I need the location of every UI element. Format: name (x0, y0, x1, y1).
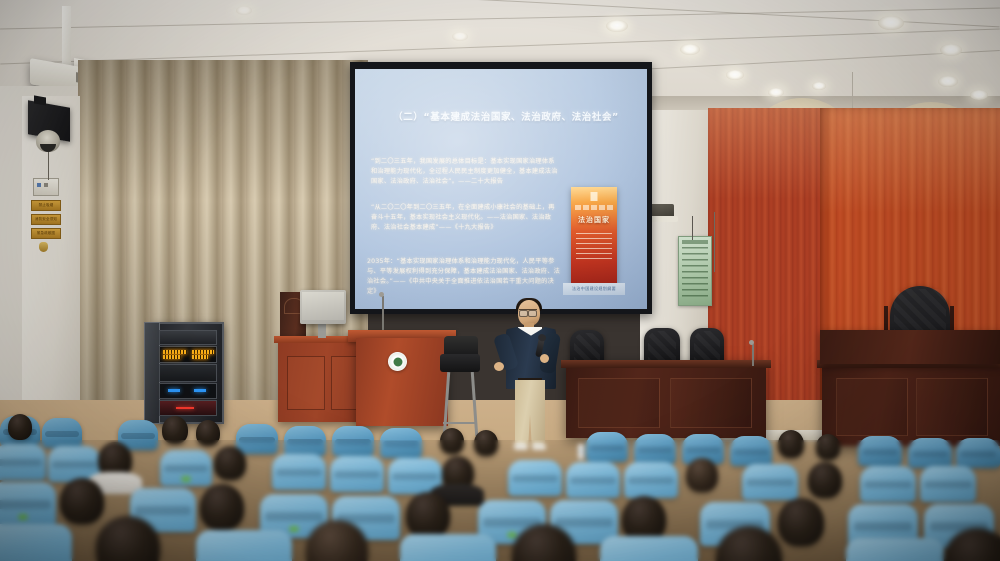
attendee-head (406, 492, 450, 538)
audience-seat (858, 436, 902, 466)
wall-plaque-label: 消防安全须知 (32, 215, 60, 224)
attendee-head (808, 462, 842, 498)
computer-monitor (300, 290, 346, 324)
wall-cable (692, 216, 693, 240)
wall-plaque: 紧急疏散图 (31, 228, 61, 239)
bar-stool (440, 336, 480, 436)
audience-seat (566, 462, 620, 498)
ceiling-downlight (236, 6, 252, 15)
attendee-head (778, 430, 804, 458)
audience-seat (0, 444, 46, 480)
ceiling-downlight (606, 20, 628, 32)
ceiling-downlight (938, 76, 958, 87)
audience-seat (400, 534, 496, 561)
attendee-head (60, 478, 104, 524)
audience-seat (600, 536, 698, 561)
university-crest-icon (388, 352, 407, 371)
electrical-panel (33, 178, 59, 196)
presenter-left-hand (494, 362, 504, 371)
audience-seat (920, 466, 976, 502)
judges-bench-left (566, 360, 766, 438)
presenter-right-hand (540, 354, 549, 363)
audience-seat (860, 466, 916, 502)
wall-plaque: 禁止吸烟 (31, 200, 61, 211)
attendee-head (196, 420, 220, 446)
attendee-head (440, 428, 464, 454)
audience-seat (634, 434, 676, 464)
slide-paragraph-1: “到二〇三五年，我国发展的总体目标是：基本实现国家治理体系和治理能力现代化，全过… (371, 157, 561, 187)
book-caption: 法治中国建设规划纲要 (563, 283, 625, 295)
audience-seat (0, 524, 72, 561)
judge-chair (570, 330, 604, 364)
av-equipment-rack (152, 322, 224, 424)
judges-bench-right (822, 360, 1000, 446)
audience-seat (730, 436, 772, 466)
slide-title: （二）“基本建成法治国家、法治政府、法治社会” (369, 109, 643, 123)
audience-seat (0, 482, 56, 526)
judge-chair (644, 328, 680, 364)
ceiling-downlight (878, 16, 904, 30)
projection-screen: （二）“基本建成法治国家、法治政府、法治社会” “到二〇三五年，我国发展的总体目… (350, 62, 652, 314)
notice-board (678, 236, 712, 306)
monitor-stand (318, 322, 326, 338)
eyeglasses-icon (519, 309, 537, 315)
bench-microphone-stem (752, 344, 754, 366)
presenter (496, 300, 568, 450)
audience-seat (196, 530, 292, 561)
attendee-head (474, 430, 498, 456)
dome-camera-icon (36, 130, 60, 152)
audience-seat (508, 460, 562, 496)
audience-seat (284, 426, 326, 456)
speaker-podium (356, 338, 448, 426)
audience-seat (160, 450, 212, 486)
projected-slide: （二）“基本建成法治国家、法治政府、法治社会” “到二〇三五年，我国发展的总体目… (355, 69, 647, 309)
ceiling-downlight (970, 90, 988, 100)
presenter-shoes (514, 443, 546, 450)
slide-paragraph-3: 2035年：“基本实现国家治理体系和治理能力现代化，人民平等参与、平等发展权利得… (367, 257, 563, 297)
judge-chair (690, 328, 724, 364)
ceiling-downlight (812, 82, 826, 90)
ceiling-downlight (768, 88, 784, 97)
bench-microphone-head (749, 340, 754, 345)
audience-seat (846, 538, 944, 561)
water-bottle (578, 444, 584, 460)
audience-seat (742, 464, 798, 500)
slide-paragraph-2: “从二〇二〇年到二〇三五年，在全面建成小康社会的基础上，再奋斗十五年，基本实现社… (371, 203, 561, 233)
wall-plaque-label: 禁止吸烟 (32, 201, 60, 210)
audience-seat (330, 456, 384, 492)
wall-plaque: 消防安全须知 (31, 214, 61, 225)
book-cover-title: 法治国家 (571, 215, 617, 225)
bench-rail (820, 330, 1000, 364)
audience-seat (42, 418, 82, 448)
auditorium-photo: 禁止吸烟 消防安全须知 紧急疏散图 （二）“基本建成法治国家、法治政府、法治社会… (0, 0, 1000, 561)
audience-seat (272, 454, 326, 490)
slide-book-cover: 法治国家 (571, 187, 617, 283)
ceiling-downlight (726, 70, 744, 80)
desk-microphone-stem (382, 296, 384, 332)
audience-seat (586, 432, 628, 462)
presenter-trousers (515, 380, 545, 446)
attendee-head (200, 484, 244, 530)
attendee-head (8, 414, 32, 440)
projector-pole (62, 6, 71, 72)
attendee-head (778, 498, 824, 546)
audience-seat (236, 424, 278, 454)
audience-seat (332, 426, 374, 456)
ceiling-downlight (452, 32, 468, 41)
attendee-head (162, 416, 188, 444)
wall-cable (714, 212, 715, 272)
wall-plaque-label: 紧急疏散图 (32, 229, 60, 238)
attendee-head (686, 458, 718, 492)
ceiling-downlight (680, 44, 700, 55)
book-caption-label: 法治中国建设规划纲要 (563, 283, 625, 295)
wall-cable (48, 152, 49, 180)
desk-microphone-head (379, 292, 384, 297)
ceiling-downlight (940, 44, 962, 56)
audience-seat (624, 462, 678, 498)
attendee-head (214, 446, 246, 480)
audience-seat (908, 438, 952, 468)
audience-seat (380, 428, 422, 458)
attendee-head (816, 434, 840, 460)
alarm-bell-icon (39, 242, 48, 252)
audience-seat (956, 438, 1000, 468)
